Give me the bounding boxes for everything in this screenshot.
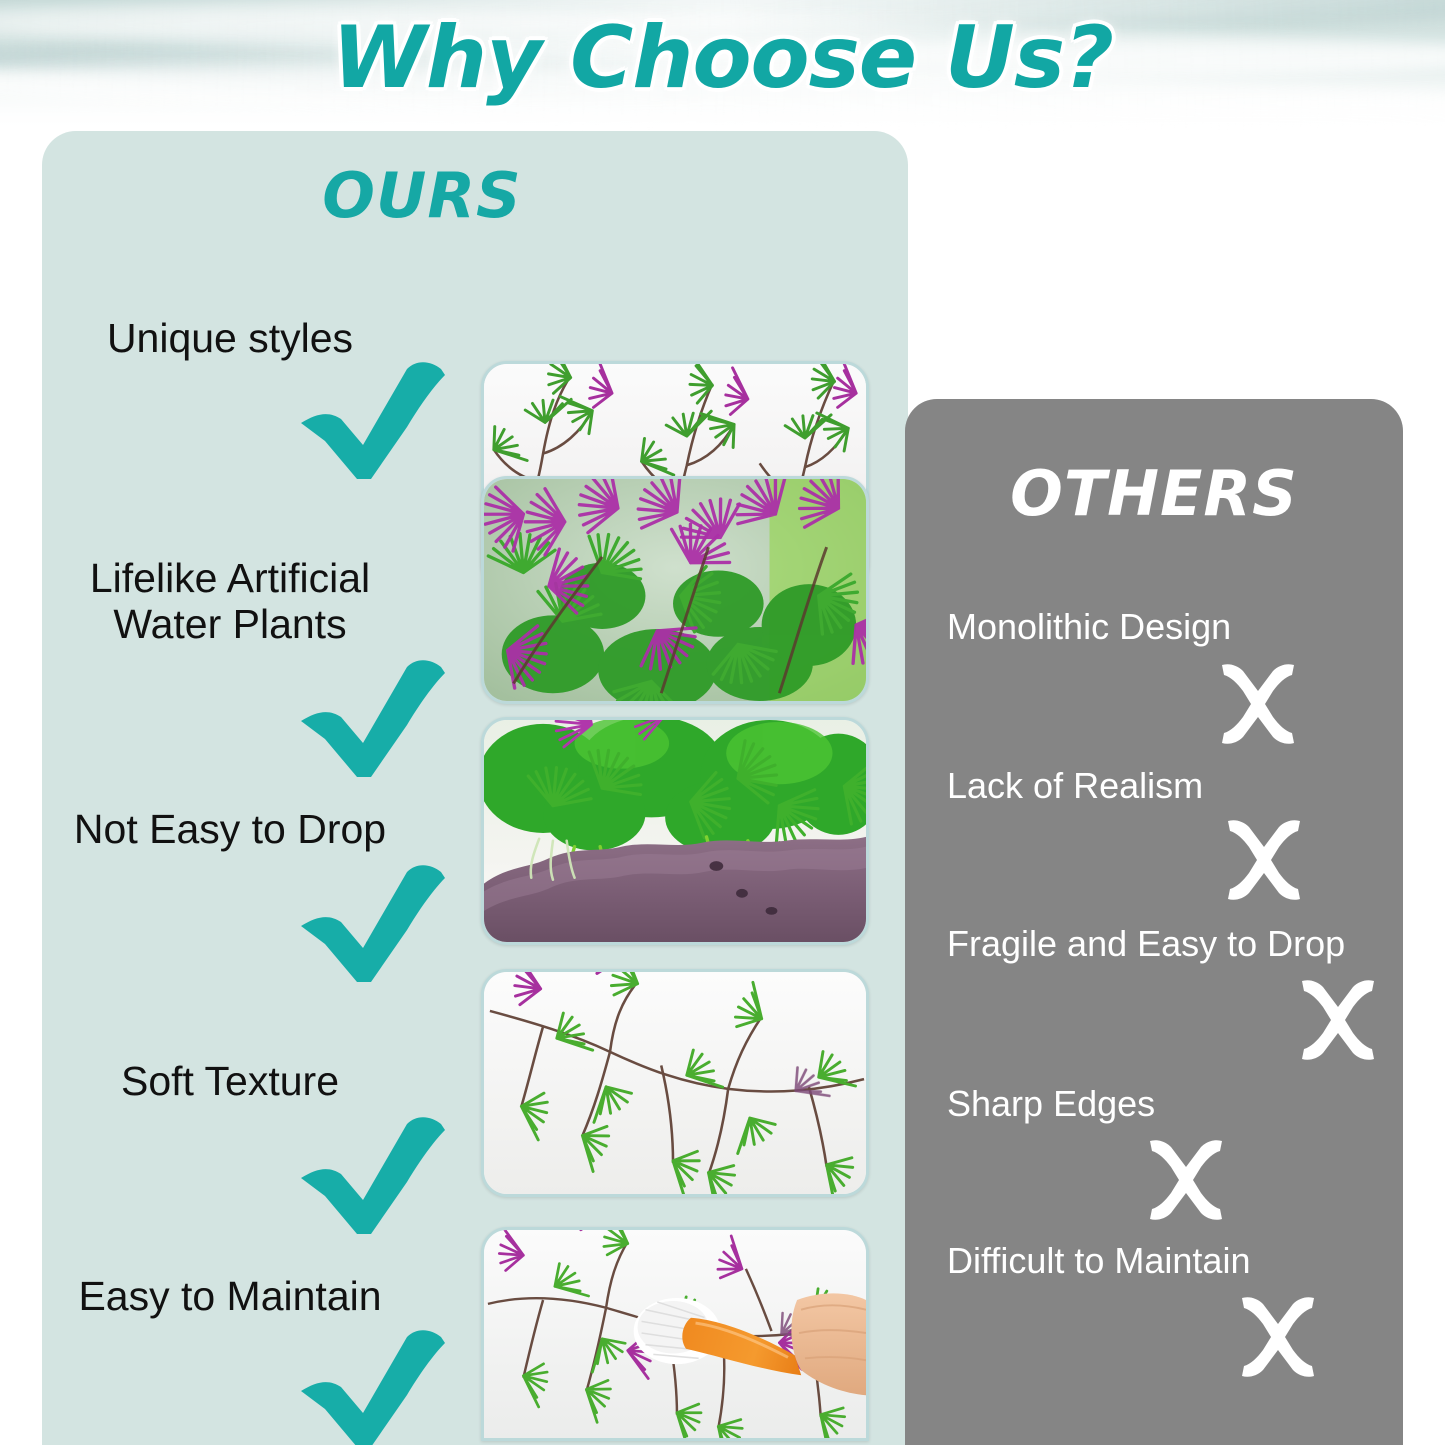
ours-item-line-5-1: Easy to Maintain (78, 1273, 381, 1319)
check-icon (295, 1329, 445, 1445)
product-photo-5 (481, 1227, 869, 1441)
product-photo-2 (481, 476, 869, 704)
ours-item-line-2-1: Lifelike Artificial (90, 555, 370, 601)
others-panel: OTHERS Monolithic Design Lack of Realism… (905, 399, 1403, 1445)
others-item-label-5: Difficult to Maintain (947, 1240, 1250, 1282)
x-icon (1143, 1137, 1229, 1223)
x-icon (1295, 977, 1381, 1063)
ours-item-label-3: Not Easy to Drop (20, 807, 440, 853)
ours-item-line-3-1: Not Easy to Drop (74, 806, 386, 852)
others-item-label-3: Fragile and Easy to Drop (947, 923, 1345, 965)
ours-item-line-4-1: Soft Texture (121, 1058, 339, 1104)
others-item-label-4: Sharp Edges (947, 1083, 1155, 1125)
x-icon (1215, 661, 1301, 747)
ours-heading: OURS (42, 159, 802, 232)
check-icon (295, 361, 445, 481)
x-icon (1221, 817, 1307, 903)
product-photo-4 (481, 969, 869, 1197)
product-photo-3 (481, 717, 869, 945)
others-item-label-2: Lack of Realism (947, 765, 1203, 807)
check-icon (295, 659, 445, 779)
check-icon (295, 1116, 445, 1236)
ours-item-label-1: Unique styles (20, 316, 440, 362)
x-icon (1235, 1294, 1321, 1380)
ours-item-label-2: Lifelike Artificial Water Plants (20, 556, 440, 648)
ours-item-line-2-2: Water Plants (113, 601, 346, 647)
ours-item-label-5: Easy to Maintain (20, 1274, 440, 1320)
others-item-label-1: Monolithic Design (947, 606, 1231, 648)
page-title: Why Choose Us? (0, 8, 1445, 108)
ours-item-line-1-1: Unique styles (107, 315, 353, 361)
infographic-page: Why Choose Us? OURS Unique styles (0, 0, 1445, 1445)
ours-item-label-4: Soft Texture (20, 1059, 440, 1105)
others-heading: OTHERS (905, 457, 1403, 530)
check-icon (295, 864, 445, 984)
